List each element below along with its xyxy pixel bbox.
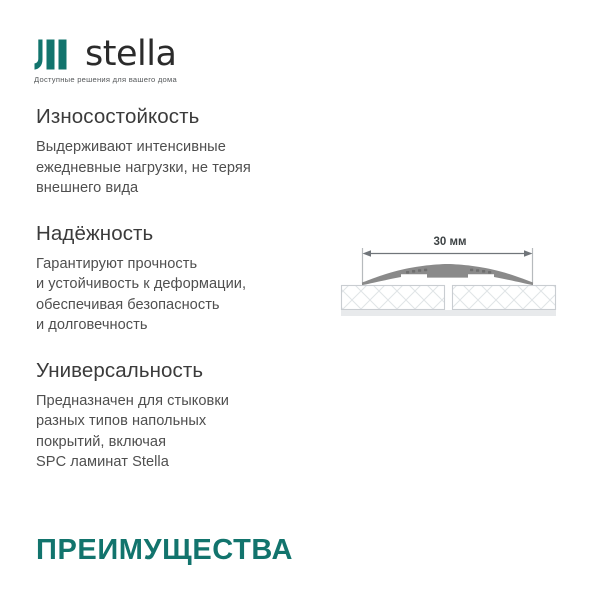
feature-title: Надёжность [36,221,326,247]
feature-body-line: покрытий, включая [36,432,326,453]
feature-body: Гарантируют прочность и устойчивость к д… [36,254,326,336]
feature-body-line: Предназначен для стыковки [36,391,326,412]
feature-body-line: внешнего вида [36,178,326,199]
feature-body-line: Выдерживают интенсивные [36,137,326,158]
logo-tagline: Доступные решения для вашего дома [34,75,294,84]
feature-body: Предназначен для стыковки разных типов н… [36,391,326,473]
dimension-line [363,250,533,257]
feature-body-line: SPC ламинат Stella [36,452,326,473]
diagram-svg: 30 мм [334,228,566,320]
feature-item-versatility: Универсальность Предназначен для стыковк… [36,358,326,473]
feature-item-reliability: Надёжность Гарантируют прочность и устой… [36,221,326,336]
feature-body-line: Гарантируют прочность [36,254,326,275]
feature-body-line: обеспечивая безопасность [36,295,326,316]
product-cross-section-diagram: 30 мм [334,228,566,320]
section-heading-advantages: ПРЕИМУЩЕСТВА [36,533,293,567]
feature-title: Универсальность [36,358,326,384]
logo-row: stella [34,36,294,70]
dimension-label: 30 мм [433,236,466,248]
feature-list: Износостойкость Выдерживают интенсивные … [36,104,326,473]
feature-body-line: разных типов напольных [36,411,326,432]
feature-body-line: ежедневные нагрузки, не теряя [36,158,326,179]
feature-title: Износостойкость [36,104,326,130]
feature-item-durability: Износостойкость Выдерживают интенсивные … [36,104,326,199]
subfloor-strip [341,310,556,316]
stella-bars-logo-icon [34,39,76,70]
logo-wordmark: stella [85,39,176,70]
floor-panel-left [342,286,445,310]
feature-body-line: и долговечность [36,315,326,336]
feature-body: Выдерживают интенсивные ежедневные нагру… [36,137,326,199]
feature-body-line: и устойчивость к деформации, [36,274,326,295]
transition-profile [362,264,533,285]
brand-logo: stella Доступные решения для вашего дома [34,36,294,84]
floor-panel-right [453,286,556,310]
